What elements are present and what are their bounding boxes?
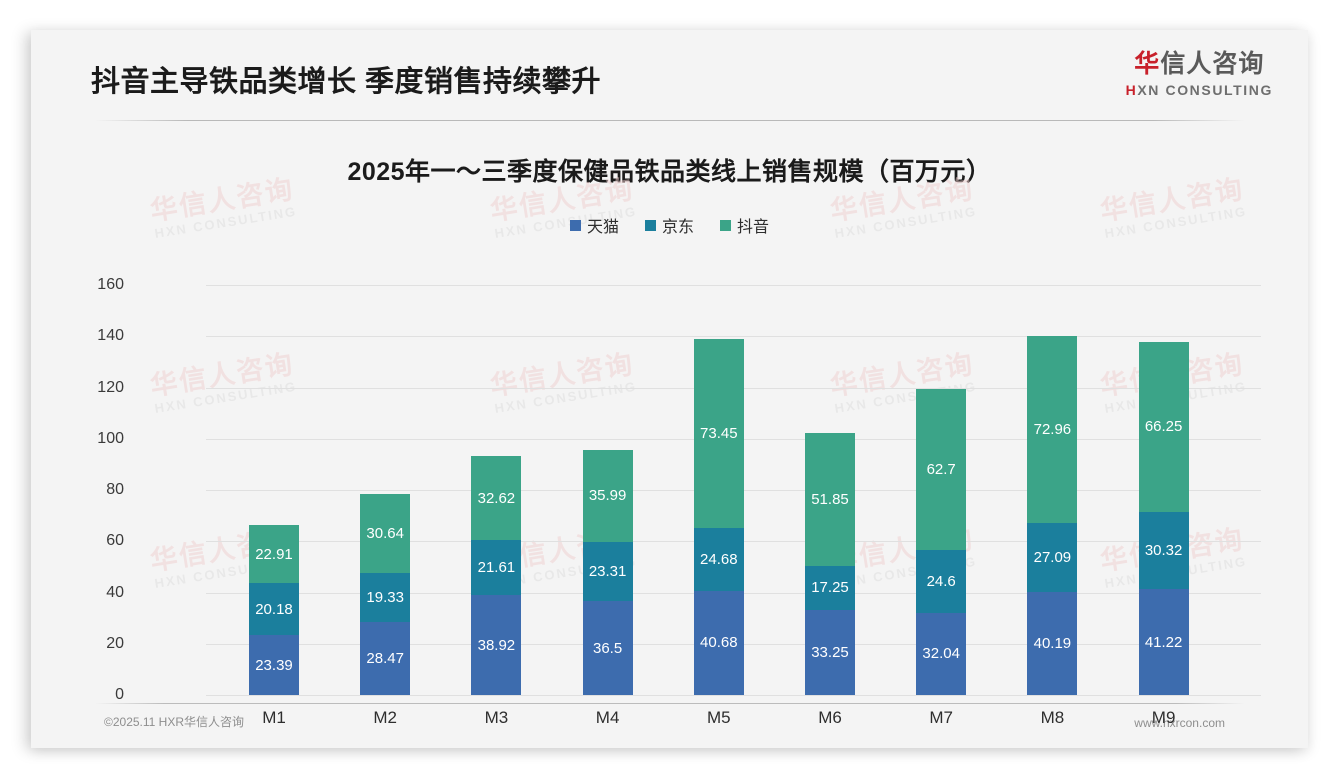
chart-legend: 天猫京东抖音 bbox=[31, 213, 1308, 237]
bar-value-label: 32.04 bbox=[922, 646, 960, 661]
bar-segment-抖音[interactable]: 51.85 bbox=[805, 433, 855, 566]
bar-value-label: 33.25 bbox=[811, 645, 849, 660]
bar-segment-天猫[interactable]: 40.19 bbox=[1027, 592, 1077, 695]
legend-item-抖音[interactable]: 抖音 bbox=[720, 213, 769, 237]
bar-segment-天猫[interactable]: 23.39 bbox=[249, 635, 299, 695]
chart-card: 抖音主导铁品类增长 季度销售持续攀升 华信人咨询 HXN CONSULTING … bbox=[31, 30, 1308, 748]
bar-group[interactable]: 73.4524.6840.68 bbox=[694, 339, 744, 695]
x-axis-tick-label: M8 bbox=[1027, 708, 1077, 728]
bar-group[interactable]: 35.9923.3136.5 bbox=[583, 450, 633, 695]
bar-segment-抖音[interactable]: 66.25 bbox=[1139, 342, 1189, 512]
legend-label: 京东 bbox=[662, 213, 694, 237]
bar-value-label: 28.47 bbox=[366, 651, 404, 666]
bar-segment-抖音[interactable]: 30.64 bbox=[360, 494, 410, 573]
x-axis-tick-label: M6 bbox=[805, 708, 855, 728]
bar-group[interactable]: 30.6419.3328.47 bbox=[360, 494, 410, 695]
bar-value-label: 73.45 bbox=[700, 426, 738, 441]
bar-group[interactable]: 72.9627.0940.19 bbox=[1027, 336, 1077, 695]
bar-group[interactable]: 51.8517.2533.25 bbox=[805, 433, 855, 695]
bar-value-label: 72.96 bbox=[1034, 422, 1072, 437]
legend-swatch-icon bbox=[570, 220, 581, 231]
bar-value-label: 30.32 bbox=[1145, 543, 1183, 558]
x-axis-tick-label: M7 bbox=[916, 708, 966, 728]
bar-segment-天猫[interactable]: 36.5 bbox=[583, 601, 633, 695]
bar-value-label: 32.62 bbox=[478, 491, 516, 506]
bar-value-label: 23.31 bbox=[589, 564, 627, 579]
bar-value-label: 19.33 bbox=[366, 590, 404, 605]
bar-value-label: 40.68 bbox=[700, 635, 738, 650]
bar-segment-京东[interactable]: 23.31 bbox=[583, 542, 633, 602]
legend-swatch-icon bbox=[645, 220, 656, 231]
bar-segment-京东[interactable]: 19.33 bbox=[360, 573, 410, 623]
bar-segment-京东[interactable]: 27.09 bbox=[1027, 523, 1077, 592]
bar-value-label: 38.92 bbox=[478, 638, 516, 653]
bar-value-label: 40.19 bbox=[1034, 636, 1072, 651]
bar-segment-抖音[interactable]: 62.7 bbox=[916, 389, 966, 550]
bar-segment-抖音[interactable]: 22.91 bbox=[249, 525, 299, 584]
bar-value-label: 66.25 bbox=[1145, 419, 1183, 434]
bar-value-label: 35.99 bbox=[589, 488, 627, 503]
bar-value-label: 20.18 bbox=[255, 602, 293, 617]
x-axis-tick-label: M5 bbox=[694, 708, 744, 728]
bar-segment-京东[interactable]: 20.18 bbox=[249, 583, 299, 635]
bar-value-label: 23.39 bbox=[255, 658, 293, 673]
plot-area: 020406080100120140160 22.9120.1823.39M13… bbox=[31, 30, 1308, 748]
bar-value-label: 17.25 bbox=[811, 580, 849, 595]
x-axis-tick-label: M1 bbox=[249, 708, 299, 728]
legend-item-天猫[interactable]: 天猫 bbox=[570, 213, 619, 237]
bar-segment-天猫[interactable]: 28.47 bbox=[360, 622, 410, 695]
x-axis-tick-label: M3 bbox=[471, 708, 521, 728]
bar-value-label: 36.5 bbox=[593, 641, 622, 656]
bar-segment-天猫[interactable]: 41.22 bbox=[1139, 589, 1189, 695]
bars-layer: 22.9120.1823.39M130.6419.3328.47M232.622… bbox=[31, 30, 1308, 748]
legend-swatch-icon bbox=[720, 220, 731, 231]
bar-segment-京东[interactable]: 30.32 bbox=[1139, 512, 1189, 590]
legend-label: 天猫 bbox=[587, 213, 619, 237]
legend-item-京东[interactable]: 京东 bbox=[645, 213, 694, 237]
bar-segment-天猫[interactable]: 38.92 bbox=[471, 595, 521, 695]
x-axis-tick-label: M4 bbox=[583, 708, 633, 728]
bar-value-label: 24.6 bbox=[927, 574, 956, 589]
x-axis-tick-label: M9 bbox=[1139, 708, 1189, 728]
slide: 抖音主导铁品类增长 季度销售持续攀升 华信人咨询 HXN CONSULTING … bbox=[0, 0, 1340, 780]
bar-segment-京东[interactable]: 21.61 bbox=[471, 540, 521, 595]
bar-value-label: 41.22 bbox=[1145, 635, 1183, 650]
bar-segment-天猫[interactable]: 32.04 bbox=[916, 613, 966, 695]
bar-value-label: 27.09 bbox=[1034, 550, 1072, 565]
legend-label: 抖音 bbox=[737, 213, 769, 237]
bar-segment-天猫[interactable]: 33.25 bbox=[805, 610, 855, 695]
bar-value-label: 21.61 bbox=[478, 560, 516, 575]
bar-segment-抖音[interactable]: 35.99 bbox=[583, 450, 633, 542]
bar-value-label: 51.85 bbox=[811, 492, 849, 507]
bar-value-label: 30.64 bbox=[366, 526, 404, 541]
bar-segment-抖音[interactable]: 73.45 bbox=[694, 339, 744, 527]
bar-segment-京东[interactable]: 17.25 bbox=[805, 566, 855, 610]
bar-group[interactable]: 66.2530.3241.22 bbox=[1139, 342, 1189, 695]
bar-value-label: 62.7 bbox=[927, 462, 956, 477]
bar-group[interactable]: 32.6221.6138.92 bbox=[471, 456, 521, 695]
bar-segment-抖音[interactable]: 32.62 bbox=[471, 456, 521, 540]
bar-group[interactable]: 62.724.632.04 bbox=[916, 389, 966, 695]
bar-segment-京东[interactable]: 24.6 bbox=[916, 550, 966, 613]
bar-value-label: 24.68 bbox=[700, 552, 738, 567]
bar-segment-抖音[interactable]: 72.96 bbox=[1027, 336, 1077, 523]
bar-group[interactable]: 22.9120.1823.39 bbox=[249, 525, 299, 695]
bar-value-label: 22.91 bbox=[255, 547, 293, 562]
x-axis-tick-label: M2 bbox=[360, 708, 410, 728]
bar-segment-天猫[interactable]: 40.68 bbox=[694, 591, 744, 695]
bar-segment-京东[interactable]: 24.68 bbox=[694, 528, 744, 591]
